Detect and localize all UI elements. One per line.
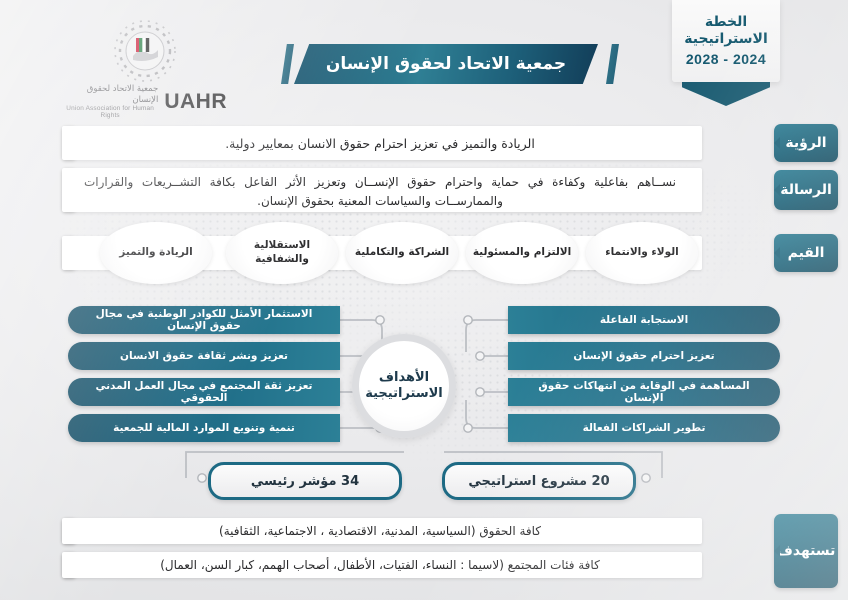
page-title: جمعية الاتحاد لحقوق الإنسان (326, 54, 566, 74)
value-bubble-4: الاستقلالية والشفافية (226, 222, 338, 284)
goal-left-3: تعزيز ثقة المجتمع في مجال العمل المدني ا… (68, 378, 340, 406)
hub-line2: الاستراتيجية (365, 386, 443, 402)
target-row-2-text: كافة فئات المجتمع (لاسيما : النساء، الفت… (62, 552, 702, 578)
vision-label: الرؤية (774, 124, 838, 162)
value-bubble-1: الولاء والانتماء (586, 222, 698, 284)
banner-slash-left (281, 44, 294, 84)
pill-strategic-projects: 20 مشروع استراتيجي (442, 462, 636, 500)
strategic-plan-tab: الخطة الاستراتيجية 2024 - 2028 (672, 0, 780, 82)
plan-tab-years: 2024 - 2028 (686, 51, 766, 67)
goal-right-1: الاستجابة الفاعلة (508, 306, 780, 334)
organization-logo: UAHR جمعية الاتحاد لحقوق الإنسان Union A… (62, 14, 227, 106)
strategic-goals-hub: الأهداف الاستراتيجية (352, 334, 456, 438)
value-bubble-5: الريادة والتميز (100, 222, 212, 284)
pill-key-indicators: 34 مؤشر رئيسي (208, 462, 402, 500)
hub-line1: الأهداف (379, 370, 429, 386)
plan-tab-line1: الخطة (705, 15, 747, 31)
mission-text: نســاهم بفاعلية وكفاءة في حماية واحترام … (62, 168, 702, 212)
goal-right-2: تعزيز احترام حقوق الإنسان (508, 342, 780, 370)
goal-right-4: تطوير الشراكات الفعالة (508, 414, 780, 442)
vision-text: الريادة والتميز في تعزيز احترام حقوق الا… (62, 126, 702, 160)
poster-title-banner: جمعية الاتحاد لحقوق الإنسان (294, 44, 598, 84)
goal-left-2: تعزيز ونشر ثقافة حقوق الانسان (68, 342, 340, 370)
goal-left-4: تنمية وتنويع الموارد المالية للجمعية (68, 414, 340, 442)
goal-right-3: المساهمة في الوقاية من انتهاكات حقوق الإ… (508, 378, 780, 406)
values-label: القيم (774, 234, 838, 272)
plan-tab-arrow-icon (682, 82, 770, 106)
value-bubble-3: الشراكة والتكاملية (346, 222, 458, 284)
mission-label: الرسالة (774, 170, 838, 210)
value-bubble-2: الالتزام والمسئولية (466, 222, 578, 284)
infographic-poster: UAHR جمعية الاتحاد لحقوق الإنسان Union A… (0, 0, 848, 600)
logo-acronym: UAHR (164, 90, 227, 114)
goal-left-1: الاستثمار الأمثل للكوادر الوطنية في مجال… (68, 306, 340, 334)
targets-label: تستهدف (774, 514, 838, 588)
logo-english-name: Union Association for Human Rights (62, 105, 158, 119)
plan-tab-line2: الاستراتيجية (684, 32, 767, 48)
logo-emblem-icon (108, 14, 182, 88)
target-row-1-text: كافة الحقوق (السياسية، المدنية، الاقتصاد… (62, 518, 702, 544)
banner-slash-right (606, 44, 619, 84)
